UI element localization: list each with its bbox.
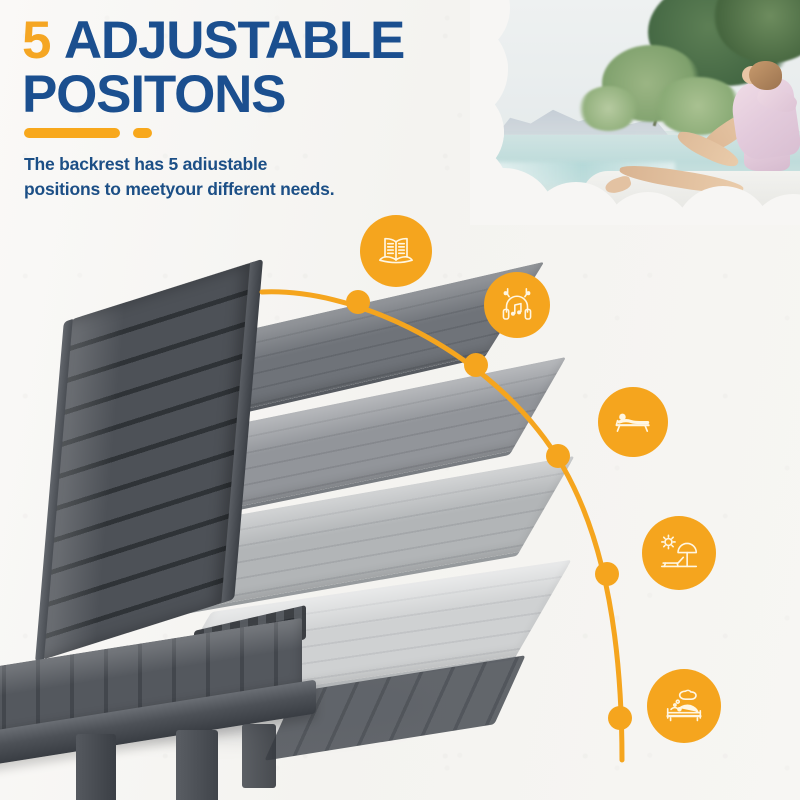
leg-right [176,730,218,800]
beach-umbrella-icon[interactable] [642,516,716,590]
subtitle: The backrest has 5 adiustable positions … [24,152,454,202]
book-icon[interactable] [360,215,432,287]
accent-bar [24,128,120,138]
title-line1: ADJUSTABLE [64,11,404,70]
page-title: 5 ADJUSTABLE POSITONS [22,14,492,122]
lounger-icon[interactable] [598,387,668,457]
headphones-icon[interactable] [484,272,550,338]
title-number: 5 [22,11,50,70]
sleeping-bed-icon[interactable] [647,669,721,743]
leg-left [76,734,116,800]
subtitle-line-2: positions to meetyour different needs. [24,177,454,202]
title-accent-rule [24,128,152,138]
backrest-position-1-upright [42,262,252,660]
leg-far [242,724,276,788]
title-line2: POSITONS [22,68,492,122]
hero-photo [470,0,800,225]
subtitle-line-1: The backrest has 5 adiustable [24,152,454,177]
chaise-lounge-product [0,300,620,800]
accent-dot [133,128,152,138]
infographic-canvas: 5 ADJUSTABLE POSITONS The backrest has 5… [0,0,800,800]
